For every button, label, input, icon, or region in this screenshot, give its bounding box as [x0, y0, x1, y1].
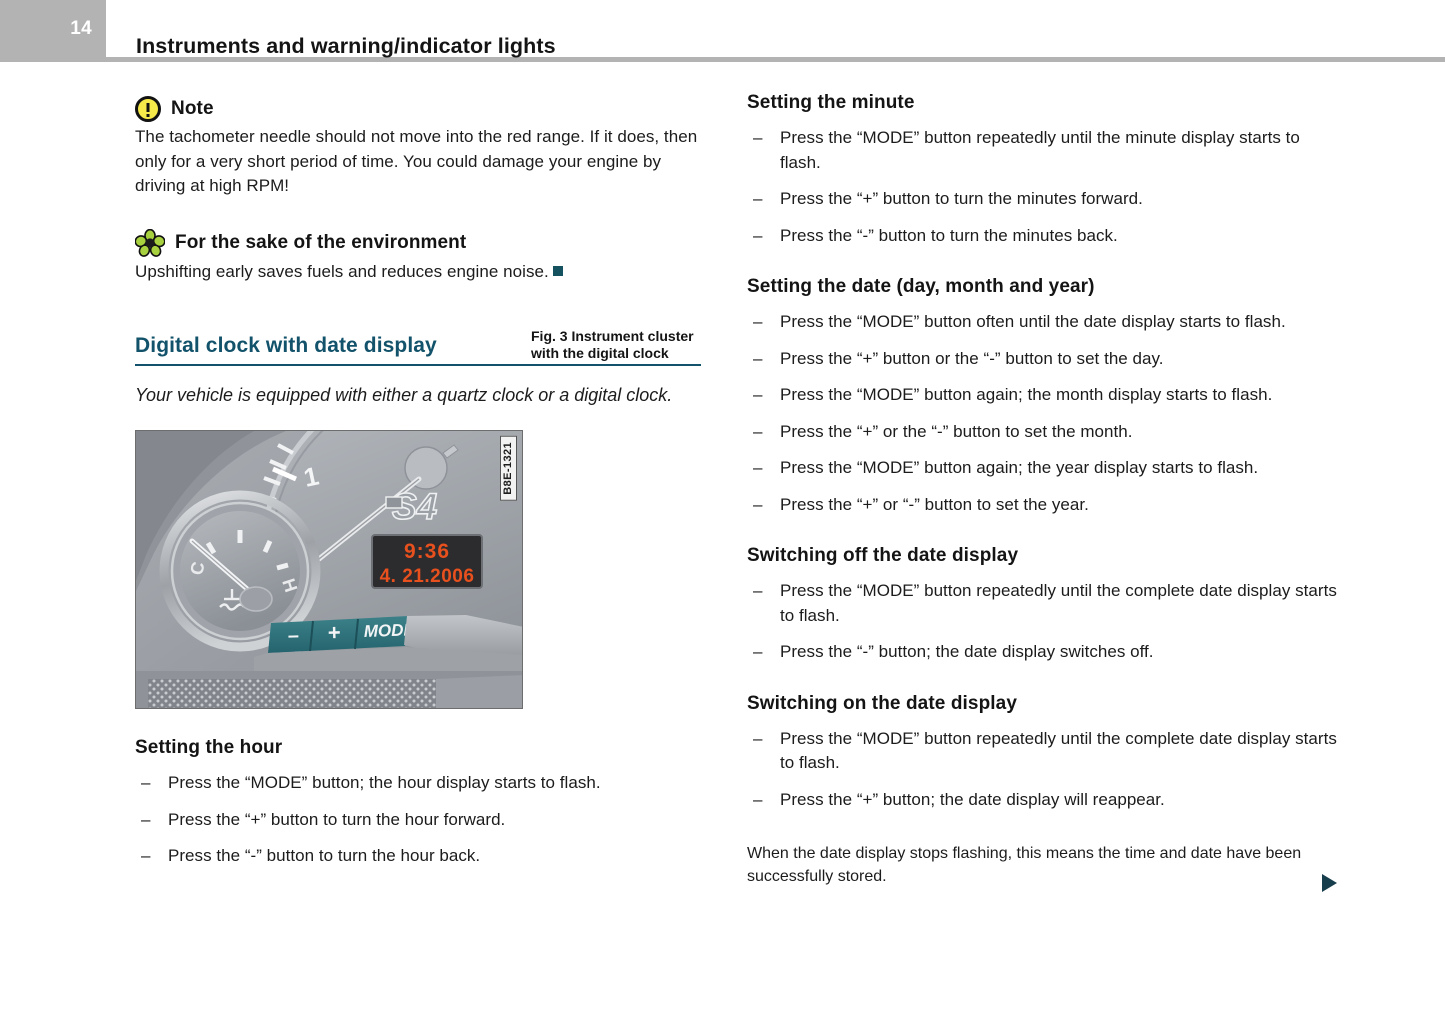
- end-of-section-square-icon: [553, 266, 563, 276]
- page-number-block: 14: [0, 0, 106, 58]
- environment-text: Upshifting early saves fuels and reduces…: [135, 262, 549, 281]
- setting-date-list: Press the “MODE” button often until the …: [747, 310, 1337, 517]
- page-header: 14 Instruments and warning/indicator lig…: [0, 0, 1445, 62]
- list-item: Press the “MODE” button; the hour displa…: [135, 771, 710, 796]
- setting-minute-list: Press the “MODE” button repeatedly until…: [747, 126, 1337, 248]
- environment-heading-row: For the sake of the environment: [135, 229, 710, 257]
- list-item: Press the “+” button to turn the minutes…: [747, 187, 1337, 212]
- svg-text:9:36: 9:36: [404, 540, 450, 563]
- closing-note: When the date display stops flashing, th…: [747, 842, 1307, 888]
- environment-block: For the sake of the environment Upshifti…: [135, 229, 710, 285]
- list-item: Press the “MODE” button repeatedly until…: [747, 727, 1337, 776]
- svg-text:4. 21.2006: 4. 21.2006: [380, 566, 475, 587]
- svg-text:+: +: [327, 620, 341, 645]
- left-column: Note The tachometer needle should not mo…: [135, 96, 710, 869]
- svg-text:–: –: [288, 625, 300, 647]
- list-item: Press the “MODE” button often until the …: [747, 310, 1337, 335]
- list-item: Press the “+” button; the date display w…: [747, 788, 1337, 813]
- note-text: The tachometer needle should not move in…: [135, 125, 710, 199]
- switch-on-date-heading: Switching on the date display: [747, 693, 1337, 715]
- list-item: Press the “MODE” button repeatedly until…: [747, 579, 1337, 628]
- list-item: Press the “-” button; the date display s…: [747, 640, 1337, 665]
- environment-heading: For the sake of the environment: [175, 232, 466, 254]
- figure-3: 1 S4 9:36 4. 21.2006: [135, 430, 523, 709]
- switch-on-date-list: Press the “MODE” button repeatedly until…: [747, 727, 1337, 813]
- setting-minute-heading: Setting the minute: [747, 92, 1337, 114]
- switch-off-date-list: Press the “MODE” button repeatedly until…: [747, 579, 1337, 665]
- page-number: 14: [0, 0, 92, 58]
- note-heading-row: Note: [135, 96, 710, 122]
- note-heading: Note: [171, 98, 214, 120]
- continue-arrow-icon: [1322, 874, 1337, 892]
- note-exclamation-icon: [135, 96, 161, 122]
- flower-icon: [135, 229, 165, 257]
- list-item: Press the “-” button to turn the minutes…: [747, 224, 1337, 249]
- list-item: Press the “-” button to turn the hour ba…: [135, 844, 710, 869]
- list-item: Press the “MODE” button again; the month…: [747, 383, 1337, 408]
- list-item: Press the “+” or the “-” button to set t…: [747, 420, 1337, 445]
- environment-text-line: Upshifting early saves fuels and reduces…: [135, 260, 710, 285]
- list-item: Press the “+” button or the “-” button t…: [747, 347, 1337, 372]
- switch-off-date-heading: Switching off the date display: [747, 545, 1337, 567]
- instrument-cluster-image: 1 S4 9:36 4. 21.2006: [135, 430, 523, 709]
- list-item: Press the “+” button to turn the hour fo…: [135, 808, 710, 833]
- figure-caption: Fig. 3 Instrument cluster with the digit…: [531, 328, 711, 362]
- figure-code-label: B8E-1321: [500, 436, 517, 501]
- setting-hour-list: Press the “MODE” button; the hour displa…: [135, 771, 710, 869]
- list-item: Press the “MODE” button repeatedly until…: [747, 126, 1337, 175]
- setting-date-heading: Setting the date (day, month and year): [747, 276, 1337, 298]
- right-column: Setting the minute Press the “MODE” butt…: [747, 92, 1337, 888]
- closing-note-wrap: When the date display stops flashing, th…: [747, 842, 1337, 888]
- list-item: Press the “+” or “-” button to set the y…: [747, 493, 1337, 518]
- section-intro: Your vehicle is equipped with either a q…: [135, 382, 685, 408]
- list-item: Press the “MODE” button again; the year …: [747, 456, 1337, 481]
- setting-hour-heading: Setting the hour: [135, 737, 710, 759]
- page-title: Instruments and warning/indicator lights: [136, 34, 556, 59]
- note-block: Note The tachometer needle should not mo…: [135, 96, 710, 199]
